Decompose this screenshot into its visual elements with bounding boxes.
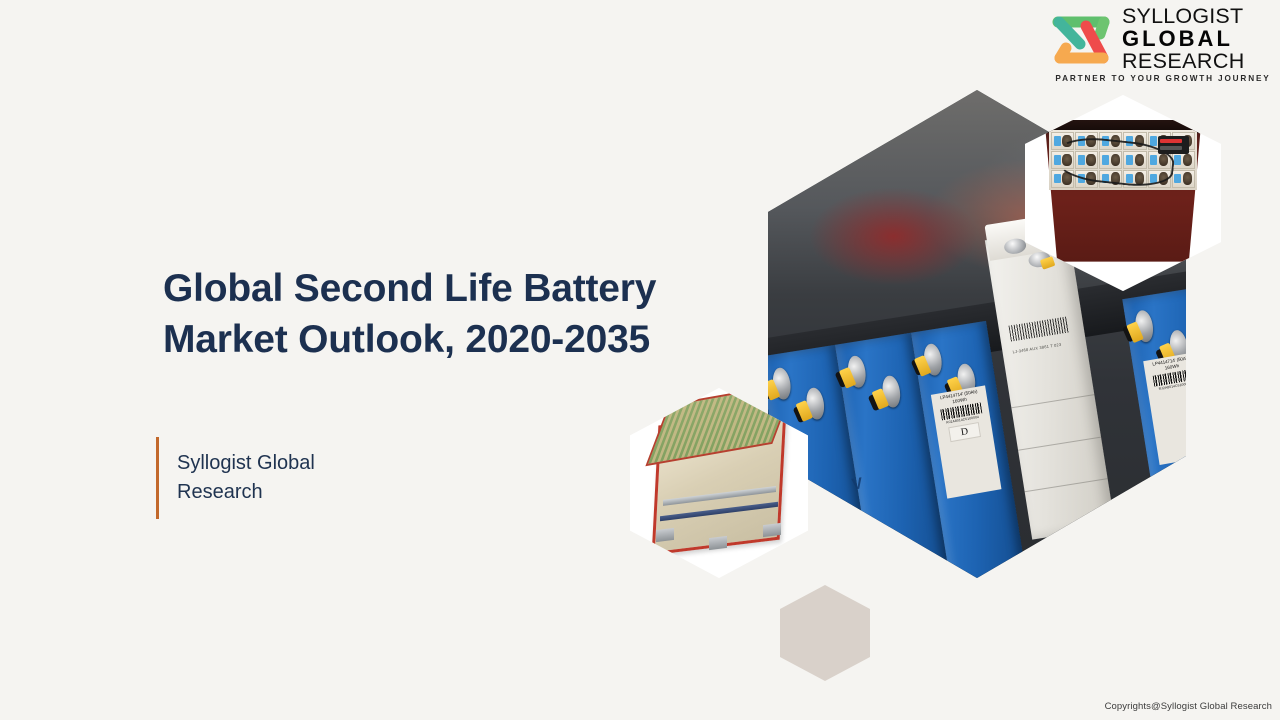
footer-copyright: Copyrights@Syllogist Global Research [1105, 701, 1272, 712]
module-code-text: LJ-3468 AUX 3861 T 023 [1013, 339, 1075, 354]
hexagon-image-collage: LP4414714' (50Ah) 160Wh RJ2A8014C6100004… [600, 80, 1240, 700]
module-seam [1025, 478, 1108, 492]
traction-battery-box [1045, 120, 1202, 261]
module-seam [1012, 394, 1095, 408]
module-3d-body [655, 418, 783, 547]
module-barcode [1009, 316, 1069, 342]
module-foot [709, 536, 727, 550]
decorative-hexagon [780, 585, 870, 681]
subtitle-block: Syllogist Global Research [156, 437, 367, 519]
voltage-mark: V [850, 475, 863, 494]
slide-canvas: SYLLOGIST GLOBAL RESEARCH PARTNER TO YOU… [0, 0, 1280, 720]
traction-cell [1172, 170, 1195, 188]
logo-line-syllogist: SYLLOGIST [1122, 6, 1278, 27]
subtitle-accent-bar [156, 437, 159, 519]
traction-connector-plug [1158, 136, 1189, 154]
logo-mark-icon [1046, 8, 1118, 72]
logo-wordmark: SYLLOGIST GLOBAL RESEARCH [1122, 6, 1278, 72]
connector-negative [1160, 146, 1182, 150]
module-seam [1018, 436, 1101, 450]
subtitle-text: Syllogist Global Research [177, 449, 367, 507]
brand-logo: SYLLOGIST GLOBAL RESEARCH PARTNER TO YOU… [1046, 6, 1278, 88]
logo-line-research: RESEARCH [1122, 50, 1278, 72]
connector-positive [1160, 139, 1182, 143]
logo-line-global: GLOBAL [1122, 27, 1278, 50]
